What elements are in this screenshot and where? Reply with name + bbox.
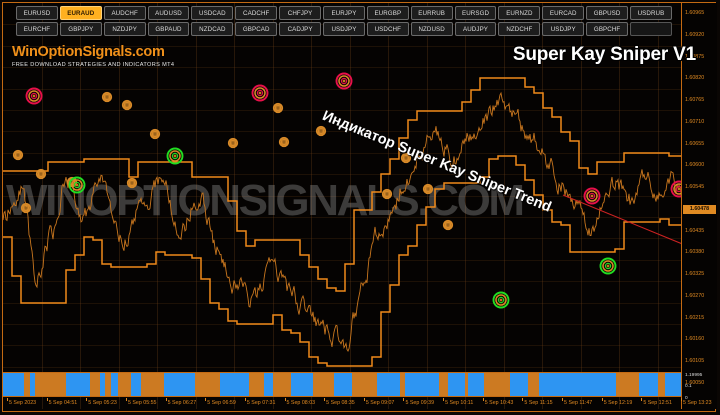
time-tick-label: 5 Sep 09:39 [405,400,434,406]
time-tick-mark [126,398,127,401]
time-tick-mark [285,398,286,401]
time-tick-label: 5 Sep 10:43 [485,400,514,406]
pair-button-usdjpy[interactable]: USDJPY [542,22,584,36]
subindicator-bar [448,373,464,396]
signal-marker-target[interactable] [444,221,452,229]
pair-button-nzdjpy[interactable]: NZDJPY [104,22,146,36]
signal-ring [15,152,20,157]
pair-button-gbpcad[interactable]: GBPCAD [235,22,277,36]
signal-marker-buy[interactable] [601,259,616,274]
time-tick-label: 5 Sep 10:11 [445,400,473,406]
signal-ring [386,193,388,195]
brand-tagline: FREE DOWNLOAD STRATEGIES AND INDICATORS … [12,62,174,68]
time-tick-mark [245,398,246,401]
subindicator-bar [264,373,274,396]
time-tick-label: 5 Sep 11:47 [564,400,592,406]
subindicator-bar [616,373,639,396]
subindicator-bar [291,373,313,396]
time-tick-label: 5 Sep 11:15 [524,400,552,406]
price-tick-label: 1.60765 [685,97,704,103]
time-tick-label: 5 Sep 08:35 [326,400,355,406]
signal-center-dot [33,95,36,98]
signal-marker-target[interactable] [229,139,237,147]
brand-block: WinOptionSignals.com FREE DOWNLOAD STRAT… [12,44,174,68]
pair-button-nzdchf[interactable]: NZDCHF [498,22,540,36]
pair-button-gbpjpy[interactable]: GBPJPY [60,22,102,36]
price-tick-label: 1.60380 [685,249,704,255]
subindicator-bar [468,373,484,396]
subindicator-bar [220,373,249,396]
time-tick-label: 5 Sep 08:03 [287,400,316,406]
subindicator-bar [539,373,616,396]
pair-button-cadjpy[interactable]: CADJPY [279,22,321,36]
time-tick-mark [205,398,206,401]
signal-ring [25,207,27,209]
price-tick-label: 1.60325 [685,271,704,277]
pair-button-euraud[interactable]: EURAUD [60,6,102,20]
pair-button-eurjpy[interactable]: EURJPY [323,6,365,20]
signal-center-dot [259,92,262,95]
signal-ring [283,141,285,143]
subindicator-bar [405,373,439,396]
trading-chart-window: WINOPTIONSIGNALS.COM WinOptionSignals.co… [0,0,720,415]
signal-marker-target[interactable] [123,101,131,109]
signal-ring [152,131,157,136]
signal-ring [320,130,322,132]
subindicator-bar [639,373,658,396]
subindicator-bar [273,373,291,396]
signal-center-dot [678,188,681,191]
signal-ring [445,222,450,227]
signal-marker-buy[interactable] [494,293,509,308]
subindicator-bar [334,373,352,396]
brand-title: WinOptionSignals.com [12,44,174,60]
subindicator-bar [111,373,118,396]
pair-button-usdrub[interactable]: USDRUB [630,6,672,20]
pair-button-eurnzd[interactable]: EURNZD [498,6,540,20]
time-tick-label: 5 Sep 2023 [9,400,36,406]
subindicator-bar [66,373,90,396]
signal-ring [427,188,429,190]
signal-ring [232,142,234,144]
time-tick-label: 5 Sep 12:19 [604,400,633,406]
signal-marker-target[interactable] [14,151,22,159]
subindicator-bar [90,373,100,396]
time-tick-label: 5 Sep 06:59 [207,400,236,406]
signal-ring [275,105,280,110]
pair-button-empty [630,22,672,36]
time-tick-mark [522,398,523,401]
time-tick-mark [602,398,603,401]
currency-pair-panel: EURUSDEURAUDAUDCHFAUDUSDUSDCADCADCHFCHFJ… [16,6,672,38]
time-tick-label: 5 Sep 05:23 [88,400,117,406]
signal-ring [318,128,323,133]
subindicator-bar [439,373,449,396]
signal-ring [106,96,108,98]
subindicator-bar [377,373,400,396]
subpanel-tick-label: 1.19995 [685,373,702,378]
time-tick-mark [483,398,484,401]
subindicator-bar [35,373,66,396]
pair-button-audjpy[interactable]: AUDJPY [455,22,497,36]
price-tick-label: 1.60655 [685,141,704,147]
signal-markers-group [14,74,687,308]
price-tick-label: 1.60820 [685,75,704,81]
signal-center-dot [174,155,177,158]
subindicator-bar [484,373,510,396]
time-tick-mark [166,398,167,401]
signal-center-dot [500,299,503,302]
price-tick-label: 1.60435 [685,228,704,234]
subindicator-bar [352,373,378,396]
signal-center-dot [591,195,594,198]
signal-marker-target[interactable] [274,104,282,112]
pair-button-eurcad[interactable]: EURCAD [542,6,584,20]
pair-button-gbpchf[interactable]: GBPCHF [586,22,628,36]
pair-button-eurgbp[interactable]: EURGBP [367,6,409,20]
signal-marker-target[interactable] [103,93,111,101]
time-tick-mark [324,398,325,401]
page-title: Super Kay Sniper V1 [513,44,696,66]
subindicator-panel [3,372,697,397]
time-tick-label: 5 Sep 13:23 [683,400,712,406]
subindicator-bar [510,373,528,396]
time-tick-label: 5 Sep 09:07 [366,400,395,406]
time-tick-mark [681,398,682,401]
signal-ring [277,107,279,109]
price-tick-label: 1.60965 [685,10,704,16]
signal-marker-target[interactable] [128,179,136,187]
signal-center-dot [607,265,610,268]
signal-ring [384,191,389,196]
subindicator-bar [131,373,141,396]
signal-ring [38,171,43,176]
subpanel-tick-label: 0.1 [685,384,692,389]
subindicator-bar [249,373,264,396]
signal-marker-sell[interactable] [585,189,600,204]
signal-marker-target[interactable] [22,204,30,212]
pair-row-top: EURUSDEURAUDAUDCHFAUDUSDUSDCADCADCHFCHFJ… [16,6,672,20]
pair-button-usdchf[interactable]: USDCHF [367,22,409,36]
pair-row-bottom: EURCHFGBPJPYNZDJPYGBPAUDNZDCADGBPCADCADJ… [16,22,672,36]
signal-marker-target[interactable] [317,127,325,135]
price-tick-label: 1.60545 [685,184,704,190]
pair-button-usdjpy[interactable]: USDJPY [323,22,365,36]
signal-ring [17,154,19,156]
signal-marker-target[interactable] [151,130,159,138]
subindicator-bar [164,373,195,396]
signal-ring [40,173,42,175]
signal-marker-target[interactable] [424,185,432,193]
pair-button-usdcad[interactable]: USDCAD [191,6,233,20]
signal-ring [129,180,134,185]
pair-button-chfjpy[interactable]: CHFJPY [279,6,321,20]
subindicator-bar [3,373,24,396]
time-tick-label: 5 Sep 06:27 [168,400,197,406]
pair-button-eurusd[interactable]: EURUSD [16,6,58,20]
pair-button-nzdusd[interactable]: NZDUSD [411,22,453,36]
time-tick-label: 5 Sep 04:51 [49,400,78,406]
lower-channel-line [3,156,697,366]
signal-center-dot [76,184,79,187]
price-tick-label: 1.60270 [685,293,704,299]
signal-ring [281,139,286,144]
time-tick-mark [364,398,365,401]
signal-center-dot [343,80,346,83]
pair-button-eursgd[interactable]: EURSGD [455,6,497,20]
time-tick-label: 5 Sep 12:51 [643,400,672,406]
time-tick-mark [562,398,563,401]
signal-marker-buy[interactable] [168,149,183,164]
subindicator-bar [195,373,220,396]
time-axis: 5 Sep 20235 Sep 04:515 Sep 05:235 Sep 05… [3,398,697,412]
signal-marker-buy[interactable] [70,178,85,193]
subindicator-bar [313,373,334,396]
price-tick-label: 1.60920 [685,32,704,38]
pair-button-gbpaud[interactable]: GBPAUD [148,22,190,36]
signal-ring [425,186,430,191]
price-tick-label: 1.60160 [685,336,704,342]
signal-marker-target[interactable] [280,138,288,146]
time-tick-mark [86,398,87,401]
pair-button-audusd[interactable]: AUDUSD [148,6,190,20]
subindicator-bar [528,373,539,396]
price-tick-label: 1.60710 [685,119,704,125]
time-tick-mark [641,398,642,401]
upper-channel-line [3,78,697,291]
subindicator-bar [118,373,131,396]
pair-button-eurchf[interactable]: EURCHF [16,22,58,36]
signal-ring [23,205,28,210]
price-tick-label: 1.60600 [685,162,704,168]
subindicator-bar [141,373,164,396]
signal-ring [230,140,235,145]
price-tick-label: 1.60105 [685,358,704,364]
time-tick-label: 5 Sep 05:55 [128,400,157,406]
signal-ring [131,182,133,184]
time-tick-mark [443,398,444,401]
time-tick-mark [7,398,8,401]
signal-ring [154,133,156,135]
signal-ring [126,104,128,106]
pair-button-nzdcad[interactable]: NZDCAD [191,22,233,36]
time-tick-mark [403,398,404,401]
signal-marker-sell[interactable] [253,86,268,101]
pair-button-eurrub[interactable]: EURRUB [411,6,453,20]
current-price-tag: 1.60478 [683,205,716,214]
price-tick-label: 1.60215 [685,315,704,321]
signal-marker-sell[interactable] [27,89,42,104]
signal-ring [124,102,129,107]
pair-button-cadchf[interactable]: CADCHF [235,6,277,20]
pair-button-audchf[interactable]: AUDCHF [104,6,146,20]
signal-ring [104,94,109,99]
signal-marker-target[interactable] [383,190,391,198]
signal-marker-sell[interactable] [337,74,352,89]
time-tick-mark [47,398,48,401]
signal-marker-target[interactable] [37,170,45,178]
pair-button-gbpusd[interactable]: GBPUSD [586,6,628,20]
signal-ring [447,224,449,226]
time-tick-label: 5 Sep 07:31 [247,400,276,406]
